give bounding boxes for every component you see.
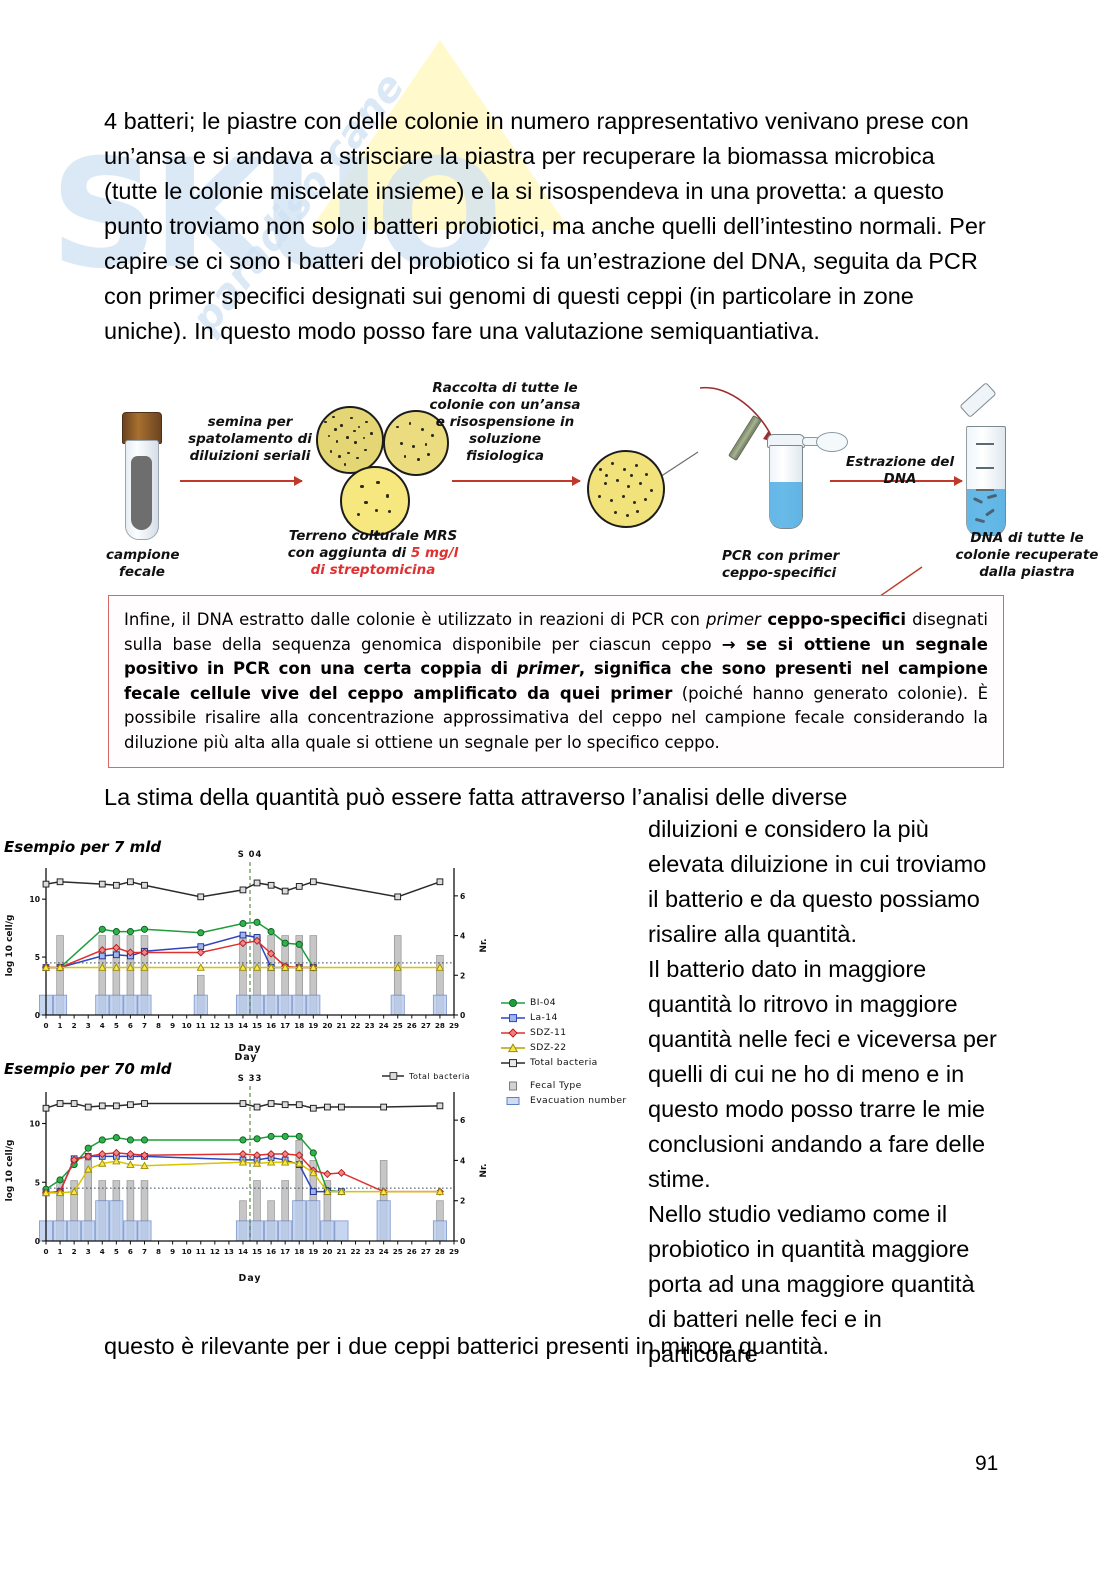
svg-text:Day: Day xyxy=(239,1273,262,1283)
svg-text:0: 0 xyxy=(43,1021,48,1030)
svg-text:25: 25 xyxy=(393,1021,403,1030)
svg-text:Total bacteria: Total bacteria xyxy=(408,1072,470,1081)
arrow-collection xyxy=(452,480,580,482)
svg-text:14: 14 xyxy=(238,1021,248,1030)
svg-text:20: 20 xyxy=(322,1021,332,1030)
svg-text:5: 5 xyxy=(114,1247,119,1256)
pcr-primer-label: PCR con primer ceppo-specifici xyxy=(722,548,872,582)
svg-text:21: 21 xyxy=(336,1021,346,1030)
svg-text:log 10 cell/g: log 10 cell/g xyxy=(5,1140,15,1202)
legend-item-total-bacteria: Total bacteria xyxy=(500,1055,650,1070)
legend-label-sdz22: SDZ-22 xyxy=(530,1042,566,1053)
svg-text:5: 5 xyxy=(114,1021,119,1030)
svg-text:3: 3 xyxy=(86,1247,91,1256)
svg-text:26: 26 xyxy=(407,1021,417,1030)
svg-text:29: 29 xyxy=(449,1247,459,1256)
svg-text:17: 17 xyxy=(280,1021,290,1030)
lead-sentence: La stima della quantità può essere fatta… xyxy=(104,780,994,815)
svg-text:18: 18 xyxy=(294,1021,304,1030)
dna-extraction-label: Estrazione del DNA xyxy=(836,454,964,488)
svg-text:5: 5 xyxy=(35,953,40,962)
legend-label-evacuation-number: Evacuation number xyxy=(530,1095,627,1106)
svg-text:Nr.: Nr. xyxy=(479,938,489,952)
legend-marker-fecal-bar-icon xyxy=(500,1081,526,1091)
svg-text:2: 2 xyxy=(72,1021,77,1030)
legend-label-sdz11: SDZ-11 xyxy=(530,1027,566,1038)
svg-text:4: 4 xyxy=(460,932,465,941)
legend-item-sdz22: SDZ-22 xyxy=(500,1040,650,1055)
svg-text:7: 7 xyxy=(142,1247,147,1256)
charts-legend: BI-04 La-14 SDZ-11 SDZ-22 Total bacteria xyxy=(500,995,650,1108)
svg-text:20: 20 xyxy=(322,1247,332,1256)
svg-text:0: 0 xyxy=(460,1237,465,1246)
svg-text:0: 0 xyxy=(460,1011,465,1020)
chart2-inline-legend: Total bacteria xyxy=(382,1072,470,1081)
legend-label-la14: La-14 xyxy=(530,1012,558,1023)
svg-text:16: 16 xyxy=(266,1021,276,1030)
chart-esempio-70-mld: Esempio per 70 mld S 3305100246012345678… xyxy=(0,1048,492,1283)
svg-text:22: 22 xyxy=(351,1021,361,1030)
pcr-explanation-text: Infine, il DNA estratto dalle colonie è … xyxy=(124,608,988,755)
svg-text:1: 1 xyxy=(58,1021,63,1030)
legend-marker-circle-icon xyxy=(500,998,526,1008)
legend-marker-diamond-icon xyxy=(500,1028,526,1038)
svg-text:28: 28 xyxy=(435,1021,445,1030)
closing-sentence: questo è rilevante per i due ceppi batte… xyxy=(104,1329,994,1364)
eppendorf-dna-icon xyxy=(962,396,1022,536)
svg-text:0: 0 xyxy=(43,1247,48,1256)
svg-text:5: 5 xyxy=(35,1178,40,1187)
svg-text:0: 0 xyxy=(35,1237,40,1246)
svg-text:3: 3 xyxy=(86,1021,91,1030)
legend-label-bi04: BI-04 xyxy=(530,997,556,1008)
svg-text:28: 28 xyxy=(435,1247,445,1256)
svg-text:log 10 cell/g: log 10 cell/g xyxy=(5,915,15,977)
svg-text:1: 1 xyxy=(58,1247,63,1256)
chart2-top-day-label: Day xyxy=(235,1052,258,1063)
svg-text:27: 27 xyxy=(421,1021,431,1030)
pcr-explanation-box: Infine, il DNA estratto dalle colonie è … xyxy=(108,595,1004,768)
svg-text:4: 4 xyxy=(100,1021,105,1030)
svg-text:4: 4 xyxy=(100,1247,105,1256)
svg-text:21: 21 xyxy=(336,1247,346,1256)
svg-text:2: 2 xyxy=(460,1197,465,1206)
svg-text:15: 15 xyxy=(252,1247,262,1256)
svg-text:16: 16 xyxy=(266,1247,276,1256)
svg-text:25: 25 xyxy=(393,1247,403,1256)
right-column-para-2: Il batterio dato in maggiore quantità lo… xyxy=(648,952,998,1197)
legend-marker-triangle-icon xyxy=(500,1043,526,1053)
right-column-text: diluizioni e considero la più elevata di… xyxy=(648,812,998,1372)
svg-text:15: 15 xyxy=(252,1021,262,1030)
svg-text:6: 6 xyxy=(128,1021,133,1030)
collection-step-label: Raccolta di tutte le colonie con un’ansa… xyxy=(420,380,590,465)
seeding-step-label: semina per spatolamento di diluizioni se… xyxy=(186,414,314,465)
svg-text:10: 10 xyxy=(182,1021,192,1030)
svg-text:Nr.: Nr. xyxy=(479,1163,489,1177)
svg-text:24: 24 xyxy=(379,1247,389,1256)
svg-text:4: 4 xyxy=(460,1156,465,1165)
fecal-sample-tube-icon xyxy=(118,412,164,540)
svg-text:19: 19 xyxy=(308,1247,318,1256)
chart2-plot: S 33051002460123456789101112131415161718… xyxy=(0,1048,492,1283)
svg-text:8: 8 xyxy=(156,1021,161,1030)
svg-text:10: 10 xyxy=(29,895,40,904)
petri-dish-sparse xyxy=(340,466,410,536)
svg-text:6: 6 xyxy=(460,1116,465,1125)
page-number: 91 xyxy=(975,1452,998,1476)
svg-text:24: 24 xyxy=(379,1021,389,1030)
svg-text:0: 0 xyxy=(35,1011,40,1020)
svg-text:12: 12 xyxy=(210,1021,220,1030)
legend-item-la14: La-14 xyxy=(500,1010,650,1025)
petri-dish-harvest xyxy=(587,450,665,528)
sample-label: campione fecale xyxy=(106,547,178,581)
arrow-seeding xyxy=(180,480,302,482)
svg-text:13: 13 xyxy=(224,1021,234,1030)
svg-text:2: 2 xyxy=(460,971,465,980)
legend-label-total-bacteria: Total bacteria xyxy=(530,1057,598,1068)
svg-text:7: 7 xyxy=(142,1021,147,1030)
svg-text:8: 8 xyxy=(156,1247,161,1256)
svg-text:10: 10 xyxy=(29,1120,40,1129)
intro-paragraph: 4 batteri; le piastre con delle colonie … xyxy=(104,104,994,349)
chart1-plot: S 04051002460123456789101112131415161718… xyxy=(0,838,492,1053)
svg-text:S 33: S 33 xyxy=(238,1073,263,1083)
legend-marker-open-square-icon xyxy=(500,1058,526,1068)
svg-text:11: 11 xyxy=(196,1247,206,1256)
svg-text:9: 9 xyxy=(170,1021,175,1030)
svg-text:6: 6 xyxy=(128,1247,133,1256)
svg-text:23: 23 xyxy=(365,1021,375,1030)
legend-item-fecal-type: Fecal Type xyxy=(500,1078,650,1093)
svg-text:12: 12 xyxy=(210,1247,220,1256)
svg-text:17: 17 xyxy=(280,1247,290,1256)
legend-item-sdz11: SDZ-11 xyxy=(500,1025,650,1040)
petri-dish-dense xyxy=(316,406,384,474)
legend-marker-evacuation-bar-icon xyxy=(500,1096,526,1106)
legend-divider xyxy=(500,1070,650,1078)
svg-text:23: 23 xyxy=(365,1247,375,1256)
legend-item-evacuation-number: Evacuation number xyxy=(500,1093,650,1108)
svg-text:11: 11 xyxy=(196,1021,206,1030)
svg-text:6: 6 xyxy=(460,892,465,901)
legend-marker-square-icon xyxy=(500,1013,526,1023)
svg-text:29: 29 xyxy=(449,1021,459,1030)
svg-text:10: 10 xyxy=(182,1247,192,1256)
svg-text:18: 18 xyxy=(294,1247,304,1256)
svg-text:9: 9 xyxy=(170,1247,175,1256)
legend-item-bi04: BI-04 xyxy=(500,995,650,1010)
svg-text:27: 27 xyxy=(421,1247,431,1256)
chart-esempio-7-mld: Esempio per 7 mld S 04051002460123456789… xyxy=(0,838,492,1053)
lab-workflow-diagram: campione fecale semina per spatolamento … xyxy=(100,362,1020,592)
svg-text:26: 26 xyxy=(407,1247,417,1256)
mrs-medium-label: Terreno colturale MRS con aggiunta di 5 … xyxy=(278,528,468,579)
legend-label-fecal-type: Fecal Type xyxy=(530,1080,582,1091)
svg-text:19: 19 xyxy=(308,1021,318,1030)
dna-result-label: DNA di tutte le colonie recuperate dalla… xyxy=(952,530,1102,581)
right-column-para-1: diluizioni e considero la più elevata di… xyxy=(648,812,998,952)
svg-text:2: 2 xyxy=(72,1247,77,1256)
svg-text:14: 14 xyxy=(238,1247,248,1256)
svg-text:13: 13 xyxy=(224,1247,234,1256)
svg-text:22: 22 xyxy=(351,1247,361,1256)
svg-text:S 04: S 04 xyxy=(238,849,263,859)
